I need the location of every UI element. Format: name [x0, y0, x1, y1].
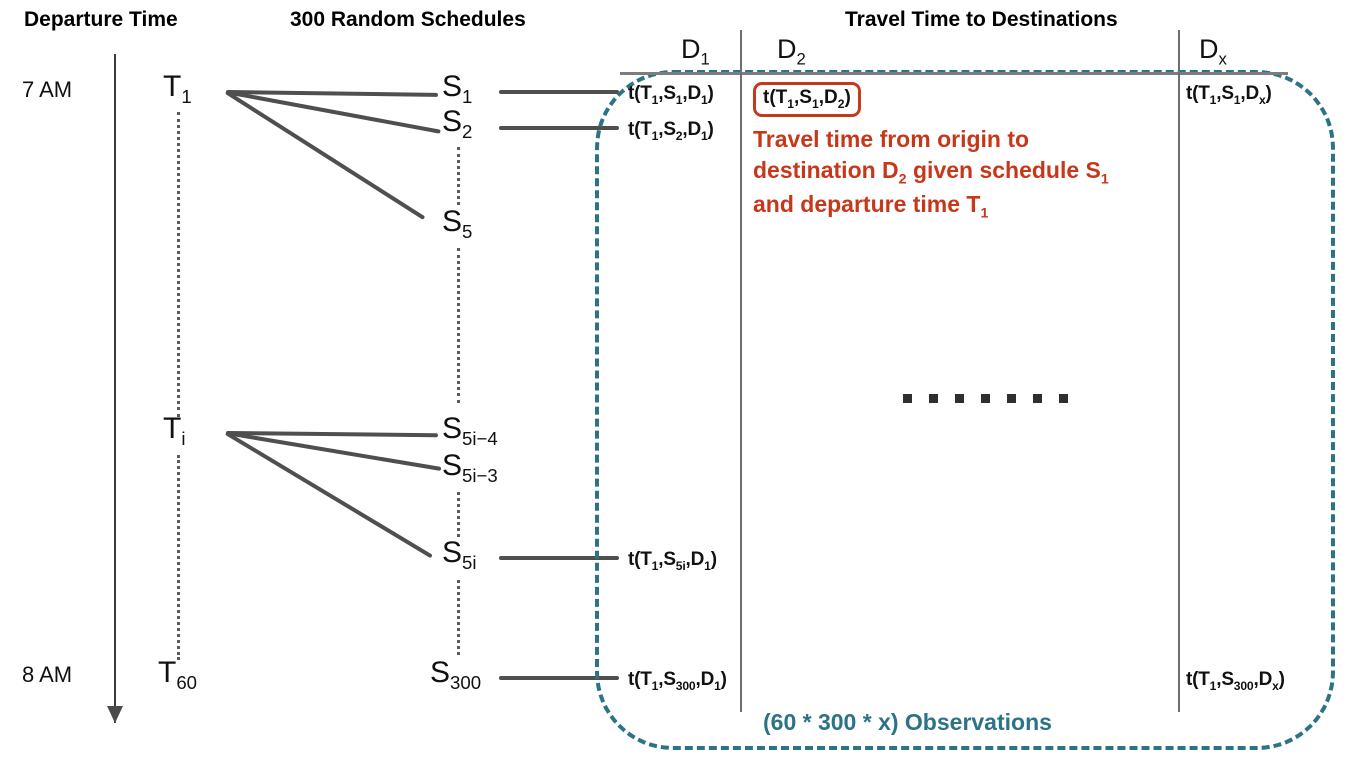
cell-text: ,D	[695, 669, 714, 690]
destination-header-d2: D2	[777, 36, 806, 68]
horizontal-square-ellipsis-icon	[903, 394, 1068, 403]
ellipsis-square	[929, 394, 938, 403]
schedule-label-s5i-3-sub: 5i−3	[462, 465, 498, 486]
departure-tick-ti-base: T	[163, 412, 181, 445]
cell-sub: 5i	[676, 559, 686, 573]
annotation-travel-time-description: Travel time from origin to destination D…	[753, 124, 1183, 224]
ellipsis-square	[955, 394, 964, 403]
cell-text: ,D	[819, 87, 838, 108]
cell-text: ,D	[1253, 669, 1272, 690]
time-axis-line	[114, 54, 116, 723]
schedule-label-s1-base: S	[442, 70, 462, 103]
departure-tick-t60-base: T	[158, 656, 176, 689]
cell-text: ,S	[658, 83, 676, 104]
annotation-sub: 2	[899, 171, 907, 187]
schedule-label-s2-sub: 2	[462, 121, 472, 142]
cell-text: t(T	[628, 669, 652, 690]
schedule-dots-1	[457, 147, 460, 205]
cell-t1-s300-d1: t(T1,S300,D1)	[628, 669, 727, 693]
cell-text: ,S	[658, 549, 676, 570]
cell-sub: 300	[676, 679, 696, 693]
schedule-label-s5-sub: 5	[462, 221, 472, 242]
travel-grid-divider-1	[740, 30, 742, 712]
annotation-text: and departure time T	[753, 191, 980, 217]
connector-s1-d1	[499, 90, 619, 94]
schedule-label-s300-sub: 300	[450, 672, 481, 693]
cell-text: t(T	[1186, 83, 1210, 104]
destination-header-dx-sub: x	[1219, 49, 1227, 68]
schedule-label-s5: S5	[442, 207, 472, 242]
annotation-sub: 1	[1101, 171, 1109, 187]
departure-tick-t60: T60	[158, 658, 197, 693]
destination-header-d1: D1	[681, 36, 710, 68]
cell-t1-s2-d1: t(T1,S2,D1)	[628, 119, 714, 143]
schedule-label-s5i-4-base: S	[442, 412, 462, 445]
axis-label-8am: 8 AM	[22, 662, 72, 688]
cell-text: ,D	[682, 119, 701, 140]
cell-text: )	[1266, 83, 1272, 104]
departure-tick-t1-base: T	[163, 70, 181, 103]
ellipsis-square	[1059, 394, 1068, 403]
departure-dots-upper	[177, 112, 180, 417]
header-travel-time: Travel Time to Destinations	[845, 8, 1118, 32]
schedule-label-s5-base: S	[442, 205, 462, 238]
cell-text: ,S	[794, 87, 812, 108]
travel-grid-top-rule	[620, 72, 1288, 75]
cell-text: ,S	[658, 669, 676, 690]
cell-text: ,S	[1216, 669, 1234, 690]
cell-text: )	[708, 83, 714, 104]
schedule-dots-4	[457, 580, 460, 655]
down-arrow-icon	[107, 706, 123, 723]
annotation-line-2: destination D2 given schedule S1	[753, 155, 1183, 190]
header-departure-time: Departure Time	[24, 8, 178, 32]
cell-text: t(T	[628, 549, 652, 570]
cell-text: )	[711, 549, 717, 570]
cell-t1-s300-dx: t(T1,S300,Dx)	[1186, 669, 1285, 693]
schedule-label-s5i: S5i	[442, 538, 477, 573]
schedule-label-s1: S1	[442, 72, 472, 107]
departure-tick-ti-sub: i	[181, 428, 185, 449]
observations-count-label: (60 * 300 * x) Observations	[755, 709, 1060, 736]
schedule-label-s5i-3: S5i−3	[442, 451, 498, 486]
cell-sub: 1	[812, 97, 819, 111]
ellipsis-square	[903, 394, 912, 403]
annotation-text: destination D	[753, 157, 899, 183]
cell-text: ,S	[658, 119, 676, 140]
header-random-schedules: 300 Random Schedules	[290, 8, 526, 32]
schedule-label-s5i-3-base: S	[442, 449, 462, 482]
cell-text: ,D	[1240, 83, 1259, 104]
destination-header-d2-base: D	[777, 34, 797, 64]
schedule-label-s5i-4: S5i−4	[442, 414, 498, 449]
cell-text: ,S	[1216, 83, 1234, 104]
schedule-label-s2-base: S	[442, 105, 462, 138]
destination-header-dx: Dx	[1199, 36, 1227, 68]
departure-tick-t60-sub: 60	[176, 672, 197, 693]
departure-tick-ti: Ti	[163, 414, 185, 449]
departure-tick-t1: T1	[163, 72, 192, 107]
ellipsis-square	[981, 394, 990, 403]
cell-text: )	[845, 87, 851, 108]
annotation-text: given schedule S	[907, 157, 1101, 183]
cell-text: t(T	[1186, 669, 1210, 690]
schedule-label-s2: S2	[442, 107, 472, 142]
schedule-dots-2	[457, 248, 460, 403]
ellipsis-square	[1007, 394, 1016, 403]
departure-dots-lower	[177, 455, 180, 660]
cell-text: )	[708, 119, 714, 140]
destination-header-d2-sub: 2	[797, 49, 806, 68]
schedule-label-s5i-sub: 5i	[462, 552, 476, 573]
destination-header-dx-base: D	[1199, 34, 1219, 64]
cell-text: ,D	[686, 549, 705, 570]
axis-label-7am: 7 AM	[22, 77, 72, 103]
annotation-line-3: and departure time T1	[753, 189, 1183, 224]
cell-text: )	[721, 669, 727, 690]
cell-sub: 300	[1234, 679, 1254, 693]
cell-text: t(T	[628, 119, 652, 140]
destination-header-d1-sub: 1	[701, 49, 710, 68]
cell-sub: 2	[838, 97, 845, 111]
highlighted-cell-t1-s1-d2[interactable]: t(T1,S1,D2)	[753, 82, 861, 117]
cell-t1-s5i-d1: t(T1,S5i,D1)	[628, 549, 717, 573]
departure-tick-t1-sub: 1	[181, 86, 191, 107]
cell-text: ,D	[682, 83, 701, 104]
schedule-label-s5i-base: S	[442, 536, 462, 569]
cell-t1-s1-dx: t(T1,S1,Dx)	[1186, 83, 1272, 107]
annotation-sub: 1	[980, 206, 988, 222]
destination-header-d1-base: D	[681, 34, 701, 64]
cell-text: )	[1279, 669, 1285, 690]
schedule-label-s5i-4-sub: 5i−4	[462, 428, 498, 449]
schedule-label-s1-sub: 1	[462, 86, 472, 107]
cell-t1-s1-d1: t(T1,S1,D1)	[628, 83, 714, 107]
ellipsis-square	[1033, 394, 1042, 403]
annotation-line-1: Travel time from origin to	[753, 124, 1183, 155]
schedule-label-s300-base: S	[430, 656, 450, 689]
cell-text: t(T	[628, 83, 652, 104]
schedule-label-s300: S300	[430, 658, 481, 693]
cell-text: t(T	[763, 87, 787, 108]
schedule-dots-3	[457, 492, 460, 537]
